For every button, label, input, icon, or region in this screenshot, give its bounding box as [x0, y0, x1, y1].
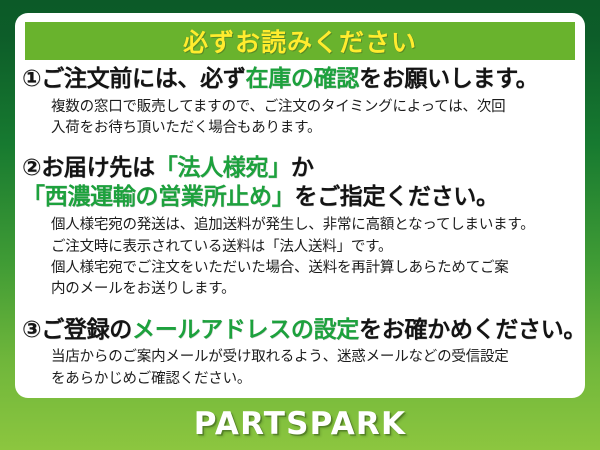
notice-item-1-head-part-0: ご注文前には、必ず: [41, 66, 245, 92]
notice-item-1-body: 複数の窓口で販売してますので、ご注文のタイミングによっては、次回 入荷をお待ち頂…: [51, 97, 577, 140]
notice-item-3: ③ご登録のメールアドレスの設定をお確かめください。 当店からのご案内メールが受け…: [15, 316, 585, 391]
notice-item-2: ②お届け先は「法人様宛」か「西濃運輸の営業所止め」をご指定ください。 個人様宅宛…: [15, 154, 585, 301]
notice-item-2-body-line-3: 個人様宅宛でご注文をいただいた場合、送料を再計算しあらためてご案: [51, 258, 577, 279]
footer-logo-area: PARTSPARK: [0, 398, 600, 450]
notice-item-2-head-part-1: 「法人様宛」: [155, 155, 291, 181]
notice-banner: 必ずお読みください ①ご注文前には、必ず在庫の確認をお願いします。 複数の窓口で…: [0, 0, 600, 450]
notice-item-2-body-line-1: 個人様宅宛の発送は、追加送料が発生し、非常に高額となってしまいます。: [51, 215, 577, 236]
notice-item-3-heading: ③ご登録のメールアドレスの設定をお確かめください。: [22, 316, 577, 346]
notice-item-1-head-part-2: をお願いします。: [359, 66, 538, 92]
notice-item-1-body-line-2: 入荷をお待ち頂いただく場合もあります。: [51, 118, 577, 139]
notice-item-1-head-part-1: 在庫の確認: [246, 66, 360, 92]
notice-item-2-body: 個人様宅宛の発送は、追加送料が発生し、非常に高額となってしまいます。 ご注文時に…: [51, 215, 577, 300]
notice-item-3-head-part-0: ご登録の: [41, 317, 132, 343]
banner-title: 必ずお読みください: [183, 23, 417, 59]
notice-item-3-body: 当店からのご案内メールが受け取れるよう、迷惑メールなどの受信設定 をあらかじめご…: [51, 347, 577, 390]
partspark-logo: PARTSPARK: [194, 406, 406, 442]
notice-item-3-head-part-1: メールアドレスの設定: [132, 317, 359, 343]
notice-item-3-marker: ③: [22, 317, 41, 343]
notice-item-2-head-part-4: をご指定ください。: [294, 184, 498, 210]
notice-card: 必ずお読みください ①ご注文前には、必ず在庫の確認をお願いします。 複数の窓口で…: [15, 13, 585, 398]
title-bar: 必ずお読みください: [25, 22, 575, 60]
notice-item-2-head-part-3: 「西濃運輸の営業所止め」: [22, 184, 294, 210]
notice-item-2-body-line-4: 内のメールをお送りします。: [51, 279, 577, 300]
notice-item-2-heading: ②お届け先は「法人様宛」か「西濃運輸の営業所止め」をご指定ください。: [22, 154, 577, 214]
notice-item-3-head-part-2: をお確かめください。: [359, 317, 586, 343]
notice-item-3-body-line-1: 当店からのご案内メールが受け取れるよう、迷惑メールなどの受信設定: [51, 347, 577, 368]
notice-item-1: ①ご注文前には、必ず在庫の確認をお願いします。 複数の窓口で販売してますので、ご…: [15, 65, 585, 140]
notice-item-2-head-part-2: か: [291, 155, 314, 181]
notice-item-2-head-part-0: お届け先は: [41, 155, 155, 181]
notice-item-list: ①ご注文前には、必ず在庫の確認をお願いします。 複数の窓口で販売してますので、ご…: [15, 65, 585, 390]
notice-item-3-body-line-2: をあらかじめご確認ください。: [51, 369, 577, 390]
notice-item-1-body-line-1: 複数の窓口で販売してますので、ご注文のタイミングによっては、次回: [51, 97, 577, 118]
notice-item-1-heading: ①ご注文前には、必ず在庫の確認をお願いします。: [22, 65, 577, 95]
notice-item-1-marker: ①: [22, 66, 41, 92]
notice-item-2-marker: ②: [22, 155, 41, 181]
notice-item-2-body-line-2: ご注文時に表示されている送料は「法人送料」です。: [51, 237, 577, 258]
